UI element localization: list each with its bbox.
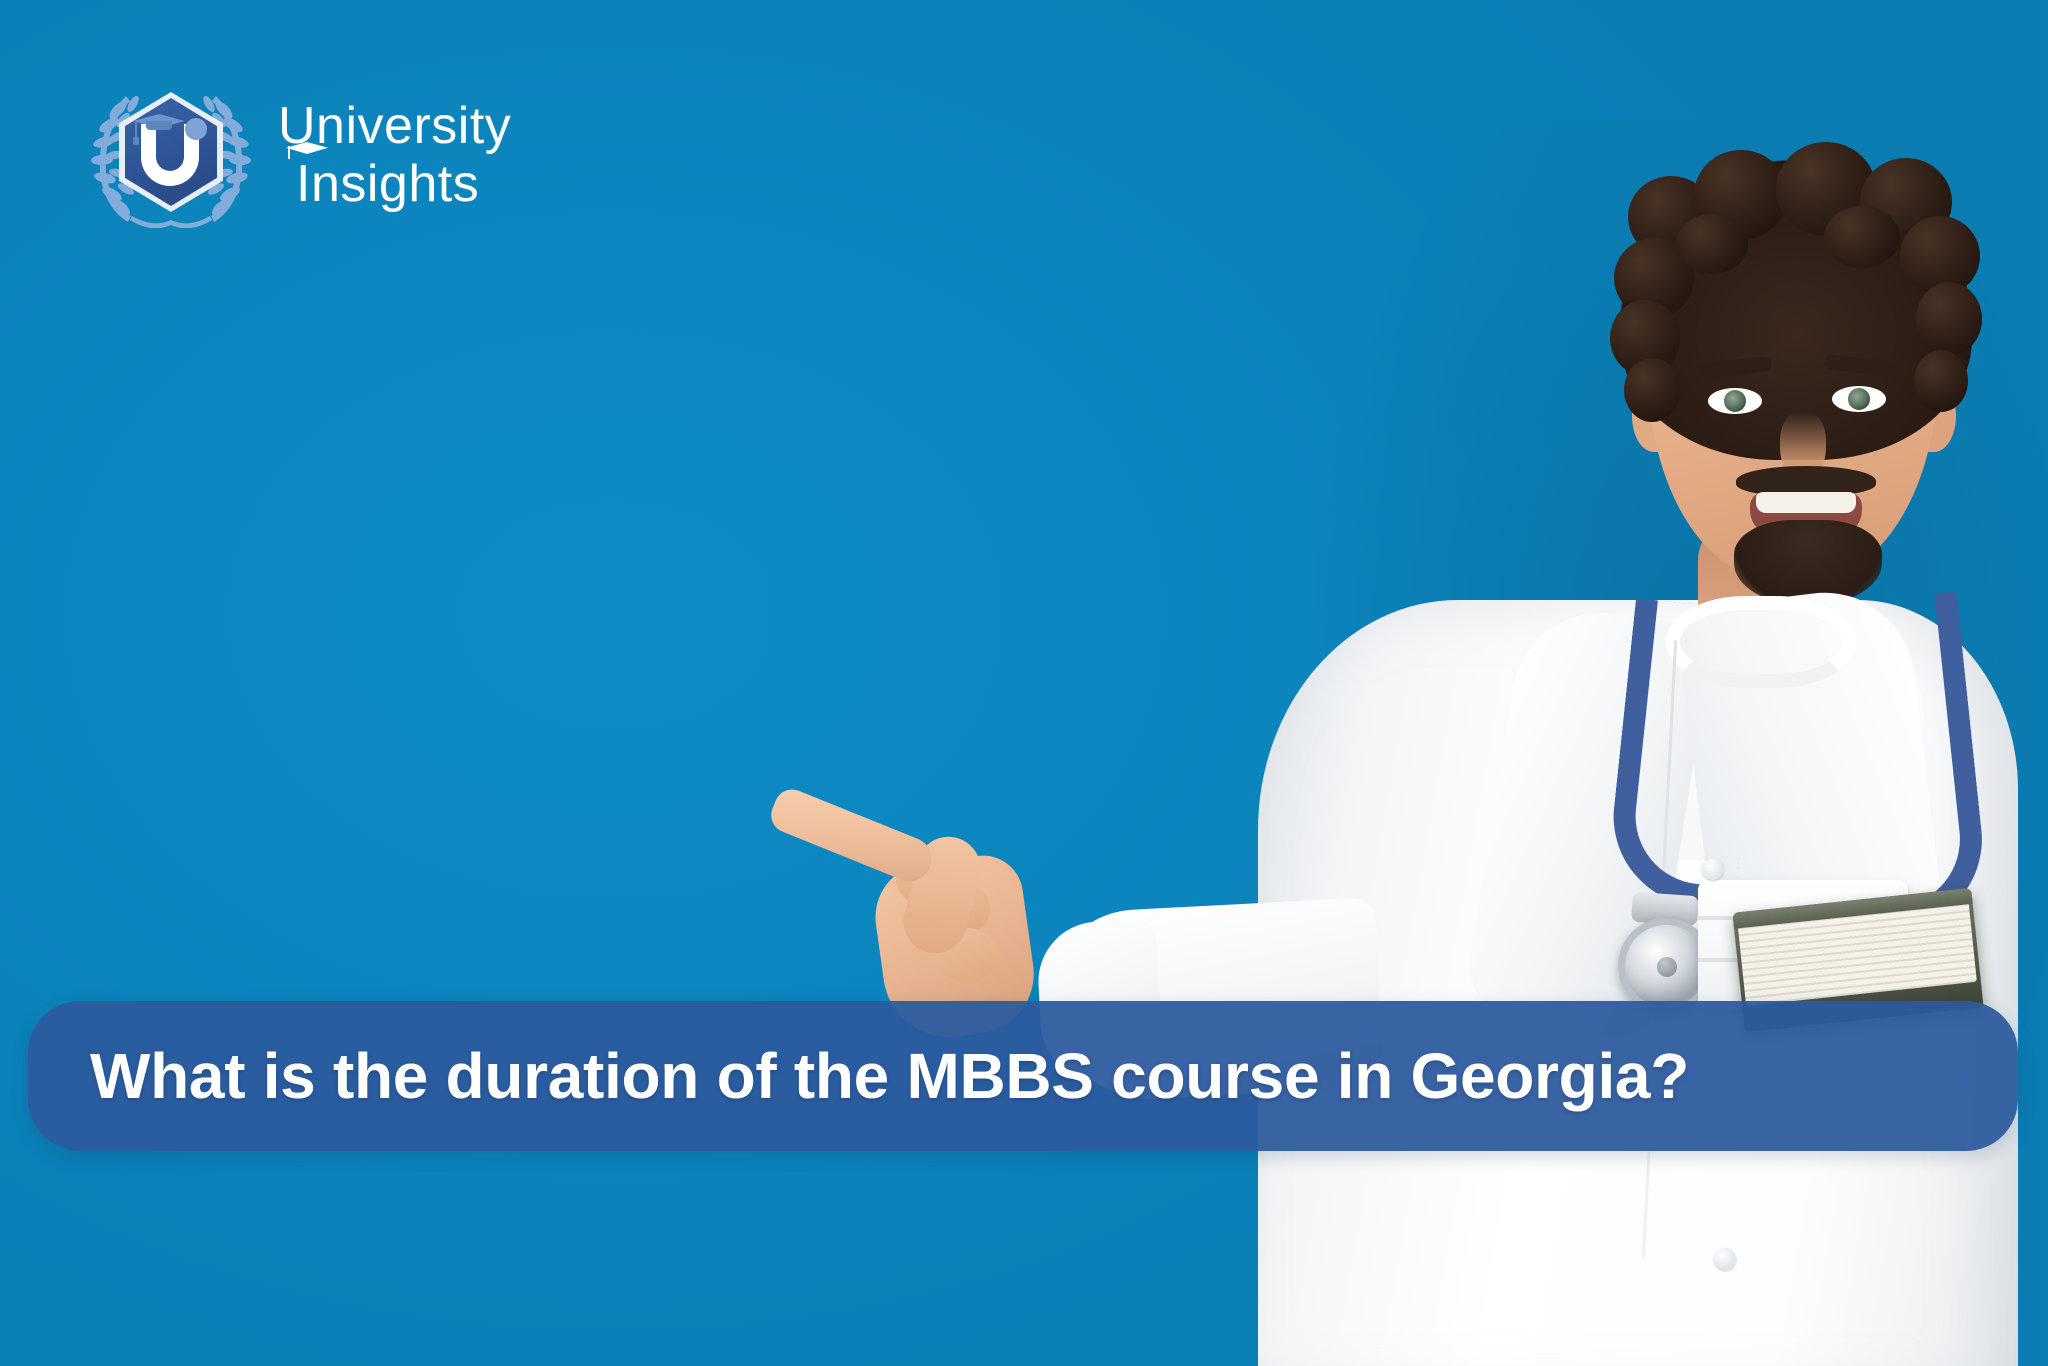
hair-curl	[1676, 214, 1748, 274]
hair-curl	[1914, 350, 1968, 412]
brand-logo[interactable]: University Insights	[78, 78, 558, 228]
graduation-cap-tassel	[135, 122, 137, 138]
hair-curl	[1824, 206, 1900, 268]
iris-right	[1848, 388, 1870, 410]
logo-line-2: Insights	[278, 158, 511, 210]
logo-badge	[78, 78, 264, 228]
badge-dot	[185, 118, 207, 140]
doctor-photo	[1228, 0, 2048, 1366]
graduation-cap-base	[146, 121, 172, 130]
eye-left	[1708, 388, 1762, 414]
logo-wordmark: University Insights	[278, 96, 511, 210]
hair-curl	[1916, 282, 1982, 356]
eye-right	[1832, 386, 1886, 412]
wordmark-cap-tassel	[288, 146, 290, 159]
hair-curl	[1624, 358, 1680, 422]
poster-canvas: University Insights	[0, 0, 2048, 1366]
coat-button	[1702, 858, 1724, 880]
index-finger	[766, 784, 938, 888]
logo-line-2-label: Insights	[296, 155, 479, 213]
question-banner[interactable]: What is the duration of the MBBS course …	[28, 1001, 2018, 1151]
question-text: What is the duration of the MBBS course …	[28, 1044, 1689, 1108]
teeth	[1756, 492, 1856, 513]
coat-button	[1714, 1248, 1736, 1270]
iris-left	[1724, 390, 1746, 412]
